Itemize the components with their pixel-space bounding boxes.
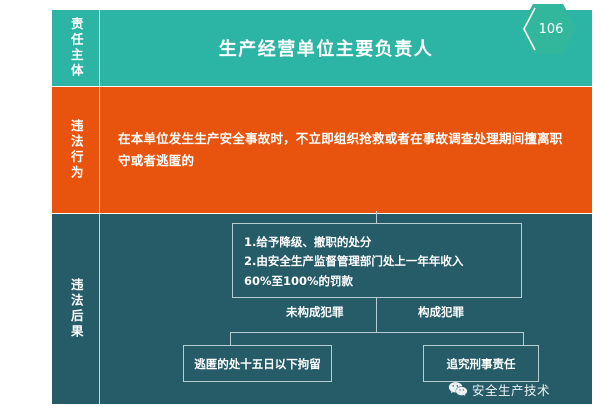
row-subject-sidebar: 责任主体 — [52, 10, 100, 86]
page-number-text: 106 — [519, 4, 577, 54]
connector-main-to-bar — [376, 298, 377, 333]
slide-canvas: 责任主体 生产经营单位主要负责人 106 违法行为 在本单位发生生产安全事故时，… — [0, 0, 600, 415]
row-consequence-label: 违法后果 — [68, 278, 82, 340]
watermark: 安全生产技术 — [448, 379, 550, 399]
penalty-item-1: 1.给予降级、撤职的处分 — [244, 233, 510, 252]
row-subject: 责任主体 生产经营单位主要负责人 — [52, 10, 592, 86]
outcome-box-detention: 逃匿的处十五日以下拘留 — [183, 345, 332, 382]
row-violation-label: 违法行为 — [68, 119, 82, 181]
row-violation: 违法行为 在本单位发生生产安全事故时，不立即组织抢救或者在事故调查处理期间擅离职… — [52, 87, 592, 213]
page-number-badge: 106 — [519, 4, 577, 54]
connector-drop-left — [230, 332, 231, 346]
wechat-icon — [448, 381, 468, 398]
violation-text-line-1: 在本单位发生生产安全事故时，不立即组织抢救或者在事故调查处理期间擅离职 — [118, 128, 578, 150]
row-subject-label: 责任主体 — [68, 17, 82, 79]
row-violation-body: 在本单位发生生产安全事故时，不立即组织抢救或者在事故调查处理期间擅离职 守或者逃… — [100, 87, 592, 213]
connector-split-bar — [230, 332, 524, 333]
connector-drop-right — [523, 332, 524, 346]
branch-label-crime: 构成犯罪 — [418, 304, 464, 320]
penalty-box: 1.给予降级、撤职的处分 2.由安全生产监督管理部门处上一年年收入 60%至10… — [232, 223, 522, 298]
row-consequence-body: 1.给予降级、撤职的处分 2.由安全生产监督管理部门处上一年年收入 60%至10… — [100, 214, 592, 404]
penalty-item-3: 60%至100%的罚款 — [244, 272, 510, 291]
row-consequence: 违法后果 1.给予降级、撤职的处分 2.由安全生产监督管理部门处上一年年收入 6… — [52, 214, 592, 404]
penalty-item-2: 2.由安全生产监督管理部门处上一年年收入 — [244, 252, 510, 271]
row-violation-sidebar: 违法行为 — [52, 87, 100, 213]
row-consequence-sidebar: 违法后果 — [52, 214, 100, 404]
outcome-box-criminal-liability: 追究刑事责任 — [423, 345, 539, 382]
branch-label-no-crime: 未构成犯罪 — [286, 304, 344, 320]
violation-description: 在本单位发生生产安全事故时，不立即组织抢救或者在事故调查处理期间擅离职 守或者逃… — [118, 128, 578, 172]
violation-text-line-2: 守或者逃匿的 — [118, 150, 578, 172]
watermark-text: 安全生产技术 — [472, 380, 550, 399]
